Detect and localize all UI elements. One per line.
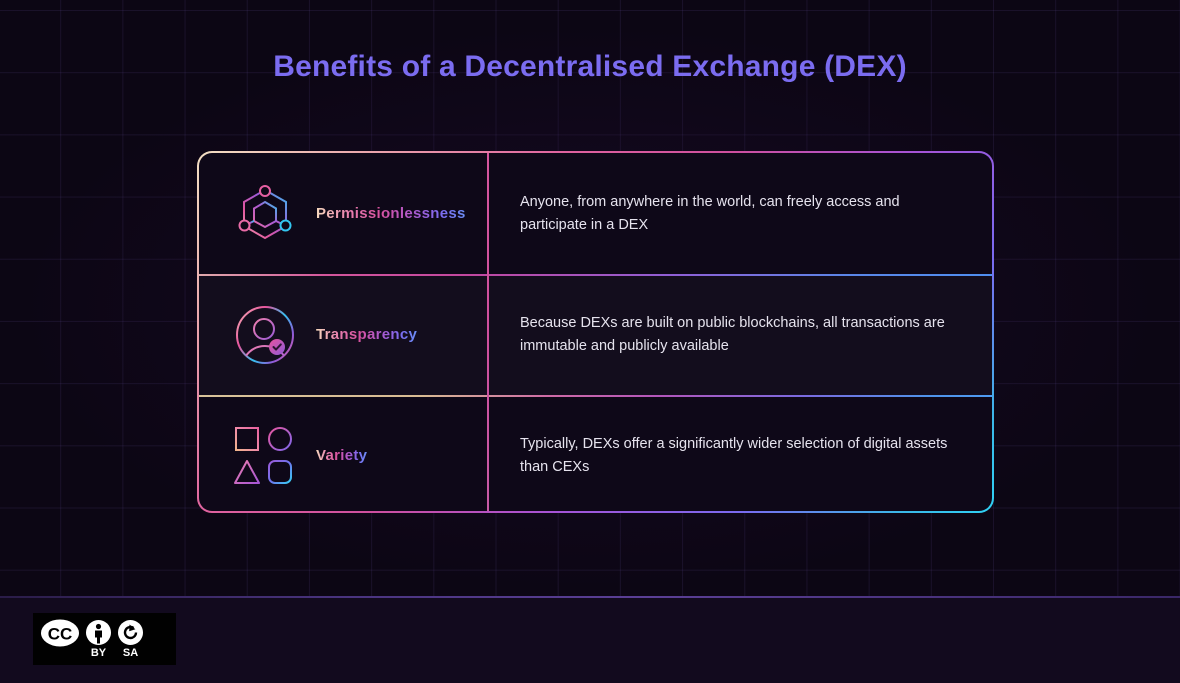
description-text: Anyone, from anywhere in the world, can … <box>520 191 958 237</box>
table-row: Variety Typically, DEXs offer a signific… <box>199 395 992 511</box>
cc-sa: SA <box>117 619 144 659</box>
category-label: Transparency <box>316 326 417 343</box>
table-row: Permissionlessness Anyone, from anywhere… <box>199 153 992 274</box>
cc-sa-label: SA <box>123 648 138 659</box>
page-title: Benefits of a Decentralised Exchange (DE… <box>0 50 1180 84</box>
column-divider <box>487 153 489 511</box>
cc-by-label: BY <box>91 648 106 659</box>
row-description-cell: Anyone, from anywhere in the world, can … <box>487 153 992 274</box>
category-label: Variety <box>316 447 367 464</box>
row-label-cell: Variety <box>199 395 487 511</box>
description-text: Because DEXs are built on public blockch… <box>520 312 958 358</box>
category-label: Permissionlessness <box>316 205 466 222</box>
row-divider <box>199 395 992 397</box>
infographic-page: Benefits of a Decentralised Exchange (DE… <box>0 0 1180 683</box>
person-icon <box>85 619 112 646</box>
network-nodes-icon <box>234 183 296 245</box>
cc-mark: CC CC <box>40 619 80 660</box>
benefits-card: Permissionlessness Anyone, from anywhere… <box>197 151 994 513</box>
row-label-cell: Transparency <box>199 274 487 395</box>
creative-commons-badge: CC CC BY SA <box>33 613 176 665</box>
description-text: Typically, DEXs offer a significantly wi… <box>520 433 958 479</box>
footer: CC CC BY SA T <box>0 598 1180 683</box>
table-row: Transparency Because DEXs are built on p… <box>199 274 992 395</box>
assorted-shapes-icon <box>234 425 296 487</box>
verified-user-icon <box>234 304 296 366</box>
row-label-cell: Permissionlessness <box>199 153 487 274</box>
row-description-cell: Typically, DEXs offer a significantly wi… <box>487 395 992 511</box>
row-divider <box>199 274 992 276</box>
share-alike-icon <box>117 619 144 646</box>
row-description-cell: Because DEXs are built on public blockch… <box>487 274 992 395</box>
cc-by: BY <box>85 619 112 659</box>
cc-logo-icon: CC <box>40 619 80 647</box>
benefits-card-inner: Permissionlessness Anyone, from anywhere… <box>199 153 992 511</box>
svg-text:CC: CC <box>48 624 73 643</box>
